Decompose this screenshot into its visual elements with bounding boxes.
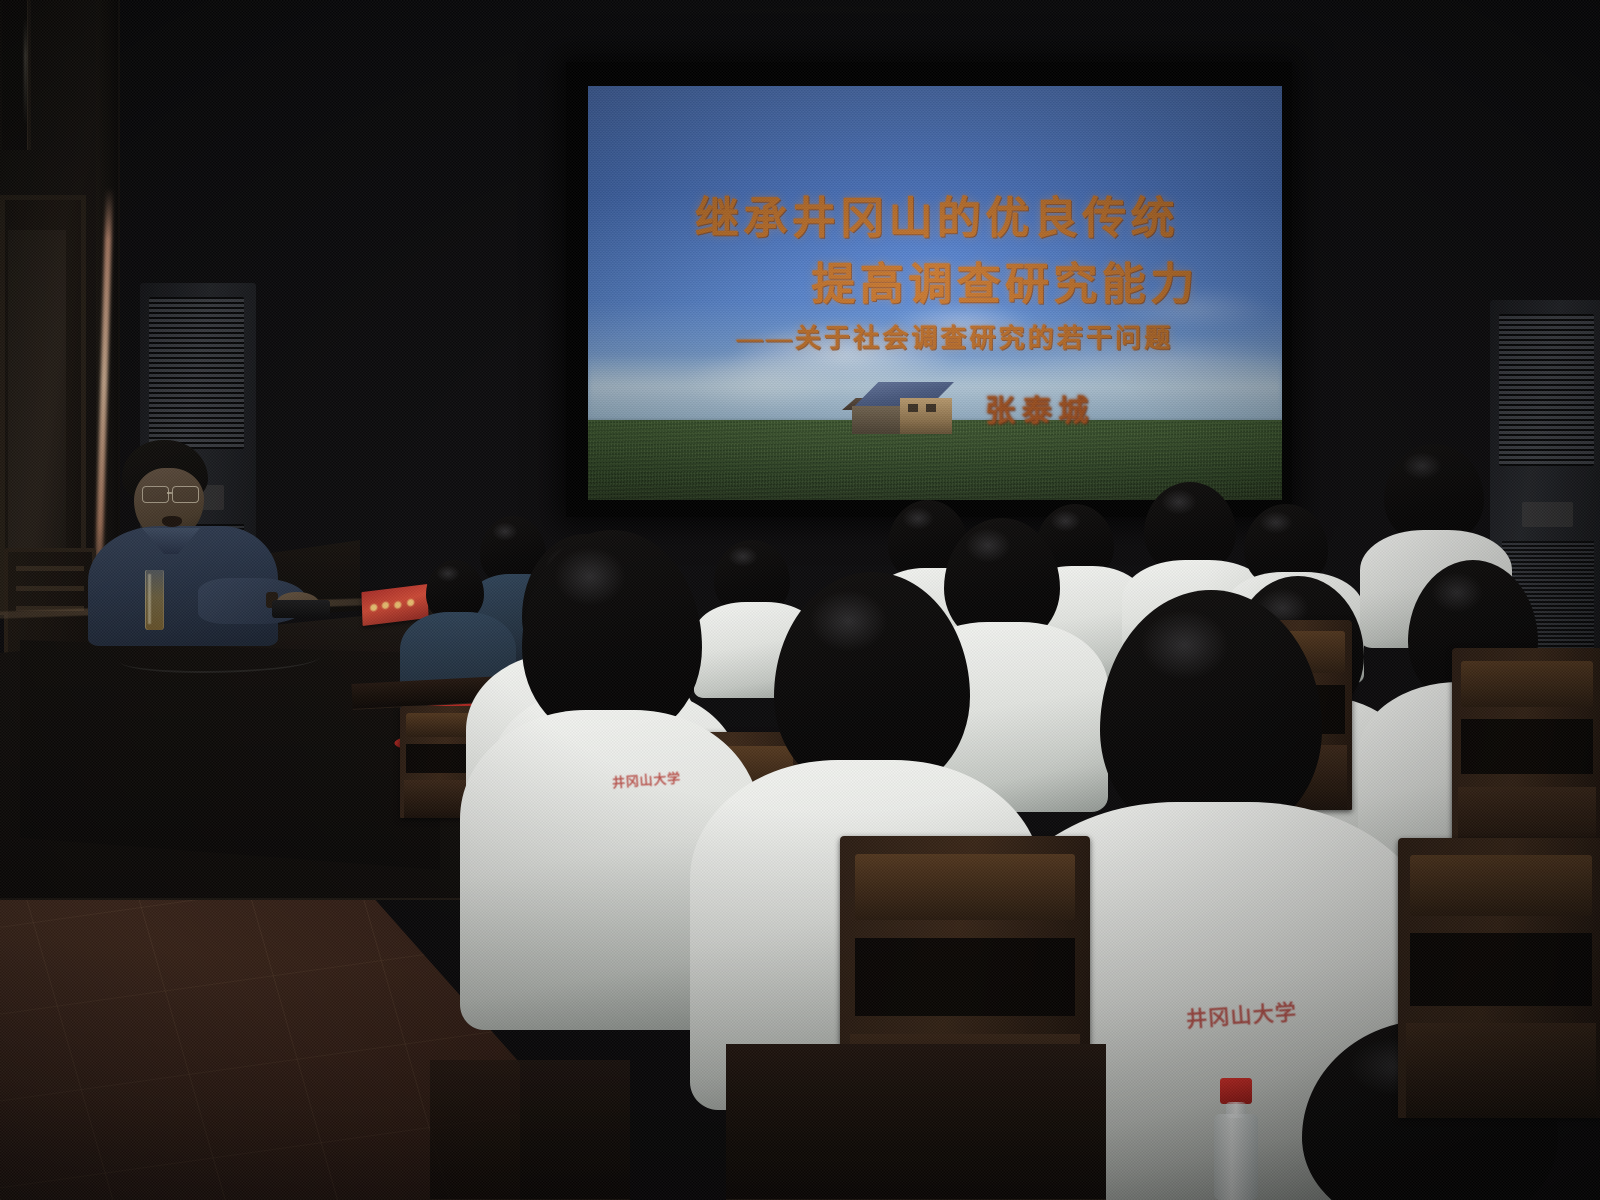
- chair-slat: [16, 586, 84, 591]
- chair-back: [1452, 648, 1600, 858]
- lecture-hall-photo: 继承井冈山的优良传统 提高调查研究能力 ——关于社会调查研究的若干问题 张泰城: [0, 0, 1600, 1200]
- glass-highlight: [148, 574, 151, 624]
- slide-author-name: 张泰城: [588, 386, 1282, 430]
- doorway-panel: [8, 230, 66, 590]
- desk-surface-left: [430, 1060, 630, 1200]
- lens-right: [172, 486, 199, 503]
- eyeglasses-icon: [142, 486, 206, 501]
- student-head: [522, 530, 702, 740]
- ac-badge: [1522, 502, 1573, 527]
- chair-rail: [1461, 661, 1593, 707]
- presenter-mouth: [162, 516, 182, 527]
- water-bottle: [1212, 1078, 1260, 1200]
- slide-subtitle: ——关于社会调查研究的若干问题: [588, 318, 1282, 355]
- projected-slide: 继承井冈山的优良传统 提高调查研究能力 ——关于社会调查研究的若干问题 张泰城: [588, 86, 1282, 500]
- chair-gap: [855, 938, 1075, 1016]
- bottle-body: [1214, 1114, 1258, 1200]
- chair-gap: [1461, 719, 1593, 774]
- table-front-panel: [20, 640, 440, 870]
- microphone-base: [272, 600, 330, 618]
- projection-screen-frame: 继承井冈山的优良传统 提高调查研究能力 ——关于社会调查研究的若干问题 张泰城: [566, 62, 1292, 517]
- tea-glass: [145, 570, 164, 630]
- chair-slat: [16, 566, 84, 571]
- chair-seatback: [1406, 1023, 1596, 1118]
- lens-left: [142, 486, 169, 503]
- chair-rail: [855, 854, 1075, 920]
- ac-louvers-icon: [1499, 314, 1593, 465]
- frame-highlight-icon: [24, 18, 27, 126]
- bottle-cap-icon: [1220, 1078, 1252, 1104]
- desk-surface-near: [726, 1044, 1106, 1200]
- glasses-bridge: [167, 492, 172, 494]
- slide-title-line-1: 继承井冈山的优良传统: [588, 182, 1282, 246]
- student-head: [1384, 444, 1484, 544]
- chair-gap: [1410, 933, 1591, 1006]
- ac-louvers-icon: [149, 297, 244, 448]
- slide-title-line-2: 提高调查研究能力: [588, 248, 1282, 312]
- chair-back: [1398, 838, 1600, 1118]
- chair-rail: [1410, 855, 1591, 917]
